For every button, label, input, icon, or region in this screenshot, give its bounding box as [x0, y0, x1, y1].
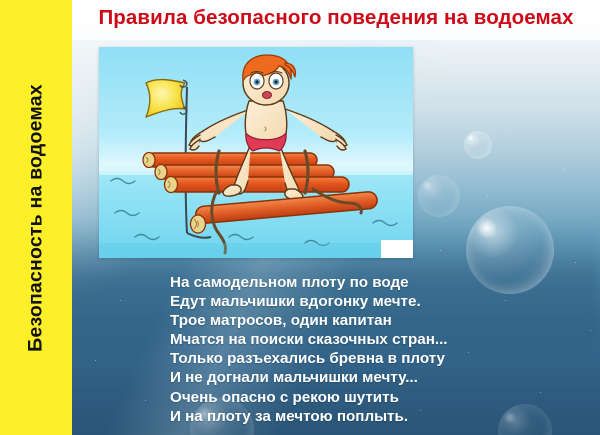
poem-line: На самодельном плоту по воде	[170, 273, 550, 292]
poem-line: И на плоту за мечтою поплыть.	[170, 407, 550, 426]
sidebar-banner: Безопасность на водоемах	[0, 0, 72, 435]
poem-line: Мчатся на поиски сказочных стран...	[170, 330, 550, 349]
page-title: Правила безопасного поведения на водоема…	[78, 6, 594, 30]
slide-canvas: Безопасность на водоемах Правила безопас…	[0, 0, 600, 435]
poem-line: Только разъехались бревна в плоту	[170, 349, 550, 368]
poem-line: Едут мальчишки вдогонку мечте.	[170, 292, 550, 311]
poem-block: На самодельном плоту по воде Едут мальчи…	[170, 273, 550, 426]
sidebar-label: Безопасность на водоемах	[25, 84, 48, 352]
bubble-edge-right	[418, 175, 460, 217]
illustration-frame	[99, 47, 413, 258]
bubble-small-upper-right	[464, 131, 492, 159]
poem-line: Трое матросов, один капитан	[170, 311, 550, 330]
illustration-white-notch	[381, 240, 413, 258]
raft-illustration	[99, 47, 413, 258]
poem-line: И не догнали мальчишки мечту...	[170, 368, 550, 387]
poem-line: Очень опасно с рекою шутить	[170, 388, 550, 407]
